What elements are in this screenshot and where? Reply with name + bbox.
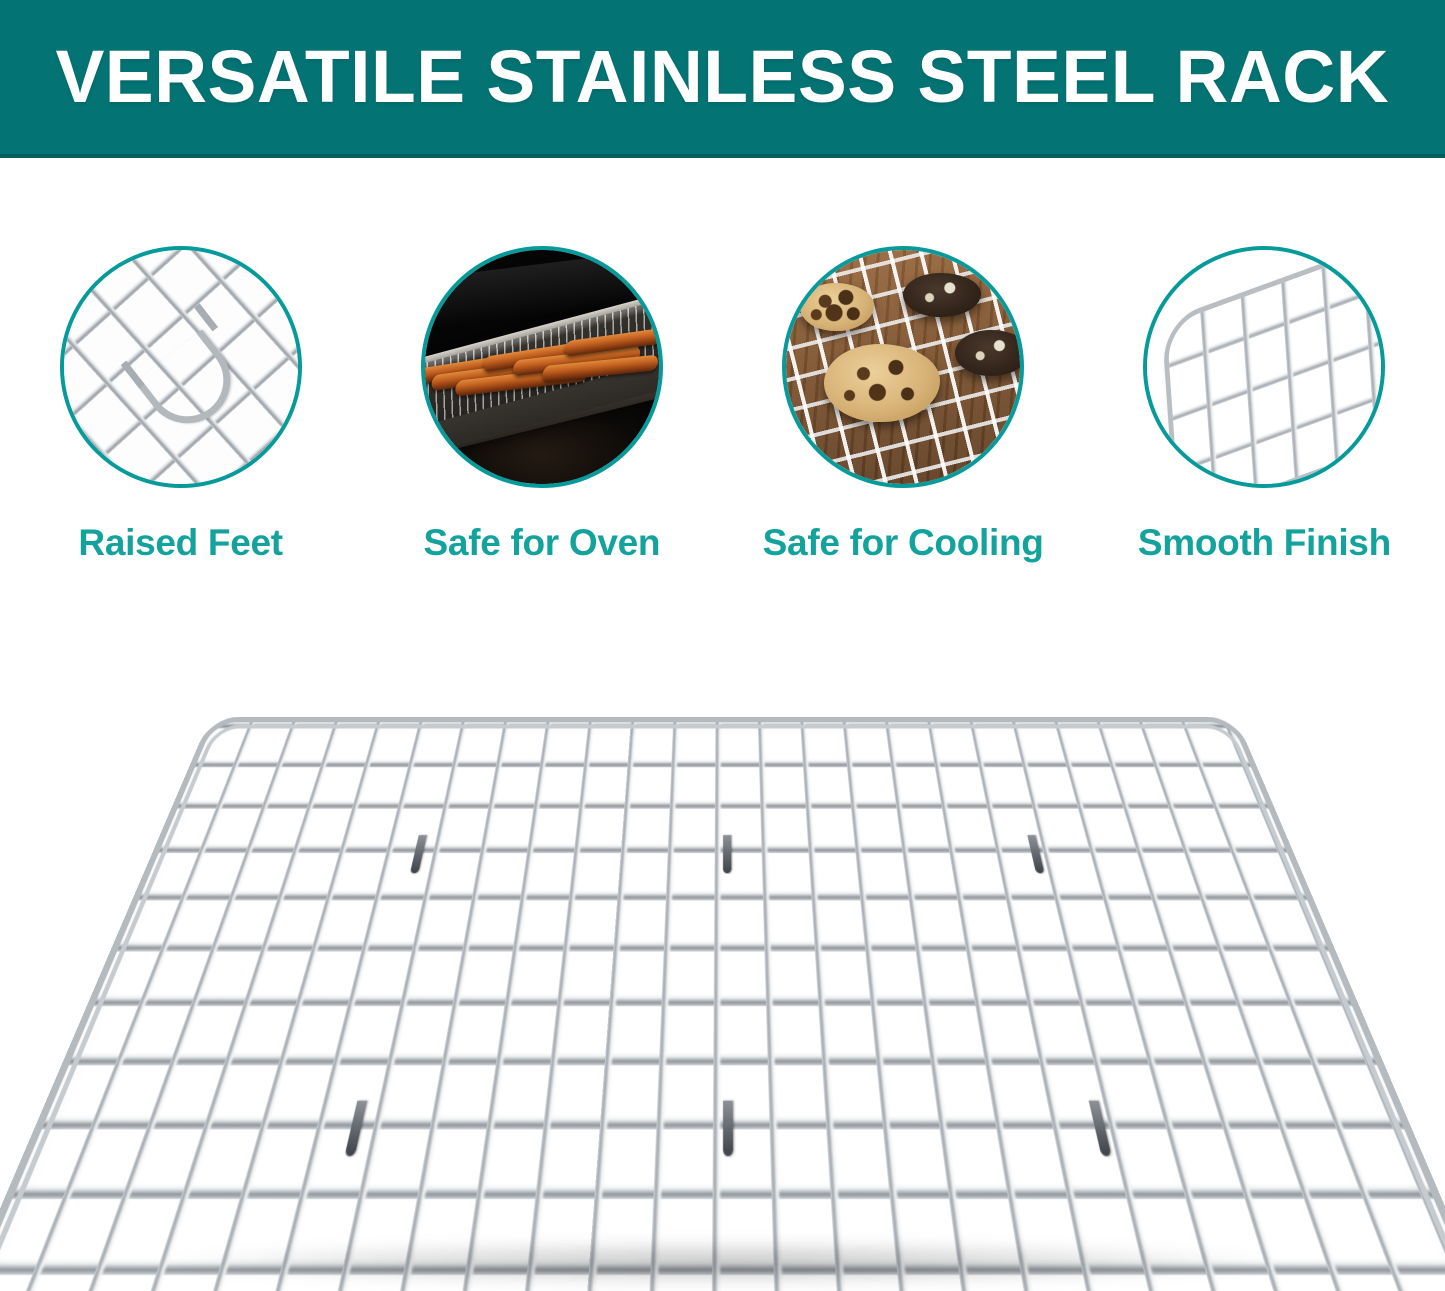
product-infographic: VERSATILE STAINLESS STEEL RACK Raised Fe…: [0, 0, 1445, 1291]
rack-foot: [723, 1101, 733, 1157]
feature-row: Raised Feet: [0, 246, 1445, 586]
feature-safe-for-cooling: Safe for Cooling: [723, 246, 1084, 586]
cookies-on-cooling-rack-photo-icon: [782, 246, 1024, 488]
feature-smooth-finish: Smooth Finish: [1084, 246, 1445, 586]
page-title: VERSATILE STAINLESS STEEL RACK: [0, 40, 1389, 114]
feature-caption-safe-for-cooling: Safe for Cooling: [763, 524, 1044, 561]
rack-drop-shadow: [163, 1241, 1283, 1285]
feature-raised-feet: Raised Feet: [0, 246, 361, 586]
bacon-in-oven-photo-icon: [421, 246, 663, 488]
rack-wire-grid: [0, 717, 1445, 1291]
product-image: [0, 640, 1445, 1291]
stainless-steel-cooling-rack: [0, 717, 1445, 1291]
feature-caption-raised-feet: Raised Feet: [78, 524, 282, 561]
wire-mesh-foot-closeup-icon: [60, 246, 302, 488]
cooling-rack-stage: [103, 698, 1343, 1238]
header-banner: VERSATILE STAINLESS STEEL RACK: [0, 0, 1445, 158]
rack-foot: [723, 835, 731, 873]
feature-caption-smooth-finish: Smooth Finish: [1138, 524, 1391, 561]
feature-caption-safe-for-oven: Safe for Oven: [424, 524, 661, 561]
feature-safe-for-oven: Safe for Oven: [361, 246, 722, 586]
rack-corner-closeup-icon: [1143, 246, 1385, 488]
